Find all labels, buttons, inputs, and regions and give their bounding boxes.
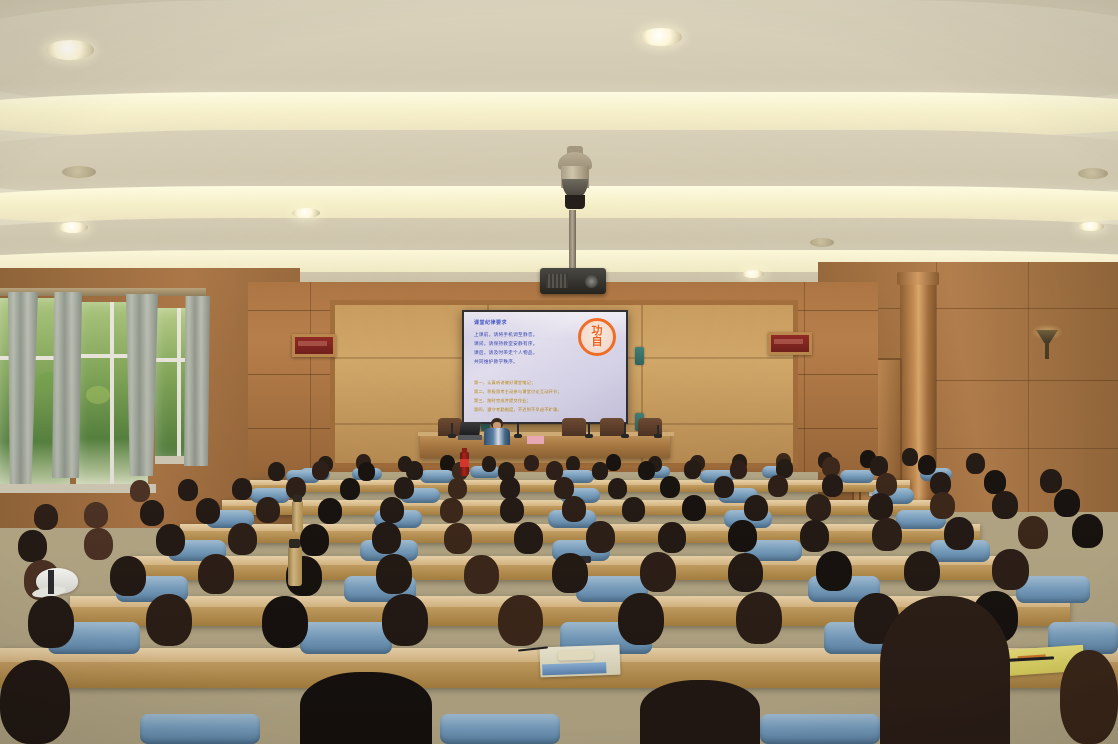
slide-body-line: 课后，请及时带走个人物品， <box>474 350 538 356</box>
recessed-downlight <box>640 28 682 46</box>
microphone-base <box>585 434 593 438</box>
recessed-downlight <box>1078 168 1108 179</box>
front-chair[interactable] <box>562 418 586 436</box>
left-window-wall <box>0 288 206 524</box>
recessed-downlight <box>1078 222 1104 231</box>
white-cap <box>36 568 78 594</box>
window-curtain[interactable] <box>184 296 210 466</box>
thermos-flask <box>288 546 302 586</box>
blue-notebook <box>540 645 621 678</box>
microphone-base <box>448 434 456 438</box>
microphone-base <box>621 434 629 438</box>
recessed-downlight <box>62 166 96 178</box>
desk-item-box <box>527 436 544 444</box>
projection-screen: 课堂纪律要求 上课前，请将手机调至静音。 课间，请保持教室安静有序。 课后，请及… <box>462 310 628 424</box>
slide-sub-line: 第一，认真听讲做好课堂笔记； <box>474 380 535 386</box>
wall-sconce-lamp-icon <box>1036 330 1058 360</box>
wall-inlay-accent <box>635 347 644 365</box>
recessed-downlight <box>46 40 94 60</box>
slide-body-line: 上课前，请将手机调至静音。 <box>474 332 538 338</box>
slide-sub-line: 第三，按时完成并提交作业； <box>474 398 531 404</box>
wall-plaque-left <box>292 334 336 357</box>
slide-body-line: 课间，请保持教室安静有序。 <box>474 341 538 347</box>
window-curtain[interactable] <box>52 292 82 478</box>
lecturer <box>484 418 510 444</box>
slide-sub-line: 第二，积极思考主动参与课堂讨论互动环节； <box>474 389 562 395</box>
slide-title: 课堂纪律要求 <box>474 319 507 326</box>
front-chair[interactable] <box>600 418 624 436</box>
microphone-base <box>514 434 522 438</box>
thermos-flask <box>292 500 303 532</box>
slide-sub-line: 第四，遵守考勤制度，不迟到不早退不旷课。 <box>474 407 562 413</box>
slide-body-line: 共同维护教学秩序。 <box>474 359 518 365</box>
cola-bottle <box>460 452 469 476</box>
dome-camera-icon <box>556 146 594 214</box>
ceiling-projector-icon <box>540 268 606 294</box>
recessed-downlight <box>58 222 88 233</box>
microphone-base <box>654 434 662 438</box>
lecture-hall-photo: 课堂纪律要求 上课前，请将手机调至静音。 课间，请保持教室安静有序。 课后，请及… <box>0 0 1118 744</box>
projector-mount-pole <box>569 210 576 272</box>
presentation-logo-seal: 功自 <box>578 318 616 356</box>
wall-plaque-right <box>768 332 812 355</box>
recessed-downlight <box>292 208 320 218</box>
recessed-downlight <box>742 270 764 278</box>
recessed-downlight <box>810 238 834 247</box>
presenter-laptop[interactable] <box>458 422 482 442</box>
window-curtain[interactable] <box>126 294 158 476</box>
